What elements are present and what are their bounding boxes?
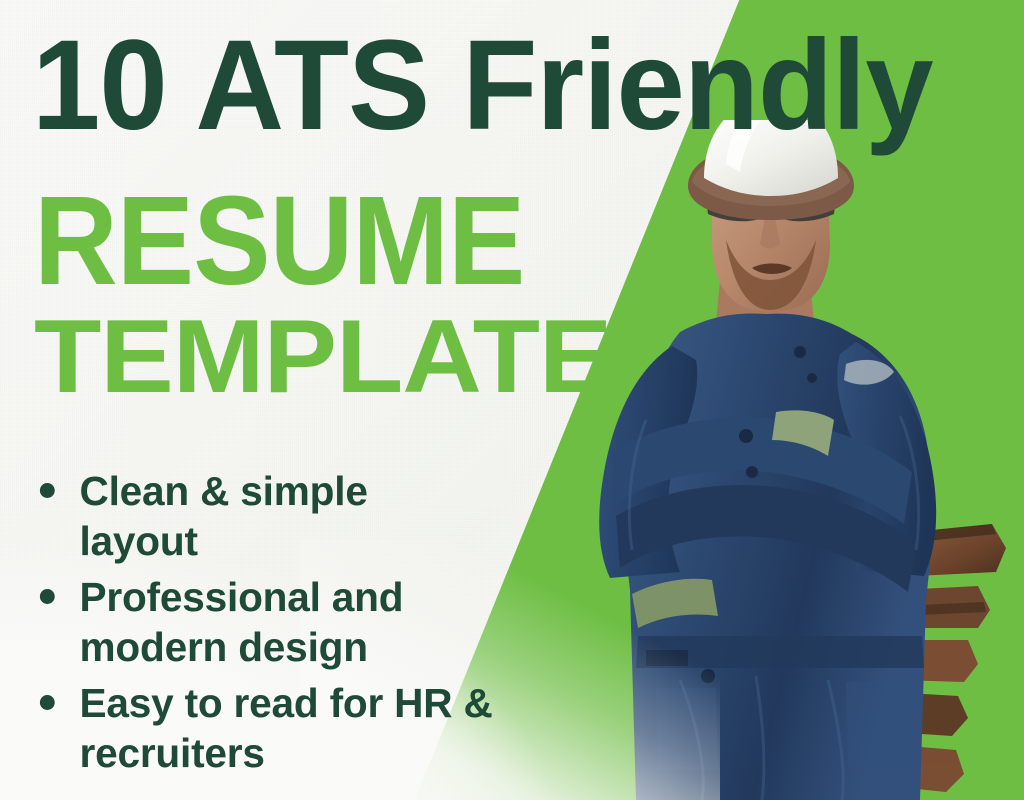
subtitle-line-2: TEMPLATE xyxy=(34,309,585,406)
bullet-dot-icon xyxy=(40,695,55,710)
construction-worker-photo xyxy=(560,120,1024,800)
subtitle: RESUME TEMPLATE xyxy=(34,182,554,406)
subtitle-line-1: RESUME xyxy=(34,182,512,299)
bullet-dot-icon xyxy=(40,483,55,498)
list-item-label: Professional and modern design xyxy=(79,574,403,670)
list-item-label: Easy to read for HR & recruiters xyxy=(79,680,492,776)
poster-canvas: 10 ATS Friendly RESUME TEMPLATE Clean & … xyxy=(0,0,1024,800)
list-item: Easy to read for HR & recruiters xyxy=(28,678,493,778)
feature-list: Clean & simple layout Professional and m… xyxy=(28,466,498,784)
list-item: Clean & simple layout xyxy=(28,466,493,566)
page-title: 10 ATS Friendly xyxy=(32,22,762,150)
bullet-dot-icon xyxy=(40,589,55,604)
list-item-label: Clean & simple layout xyxy=(79,468,367,564)
list-item: Professional and modern design xyxy=(28,572,493,672)
